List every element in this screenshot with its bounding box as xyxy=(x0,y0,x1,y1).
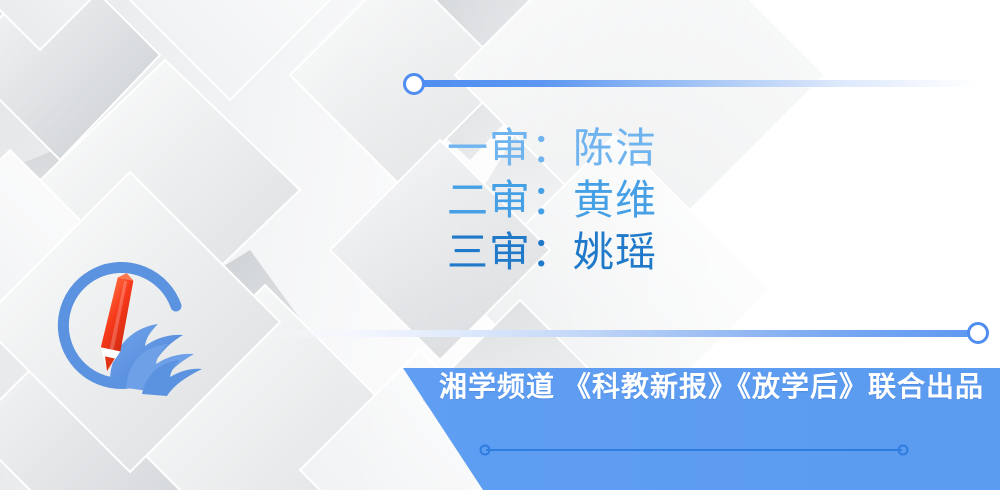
banner-title: 湘学频道 《科教新报》《放学后》联合出品 xyxy=(439,370,989,406)
top-connector-line xyxy=(420,80,980,87)
top-connector-dot-icon xyxy=(403,73,425,95)
bottom-connector-line xyxy=(268,330,982,337)
banner-rule-decoration xyxy=(478,444,910,456)
bottom-connector-dot-icon xyxy=(967,322,989,344)
end-card-canvas: 一审：陈洁 二审：黄维 三审：姚瑶 湘学频道 《科教新报》《放学后》联合出品 xyxy=(0,0,1000,490)
credit-line-third-review: 三审：姚瑶 xyxy=(447,226,867,278)
credit-line-first-review: 一审：陈洁 xyxy=(447,122,867,174)
credits-block: 一审：陈洁 二审：黄维 三审：姚瑶 xyxy=(447,122,867,278)
credit-line-second-review: 二审：黄维 xyxy=(447,174,867,226)
